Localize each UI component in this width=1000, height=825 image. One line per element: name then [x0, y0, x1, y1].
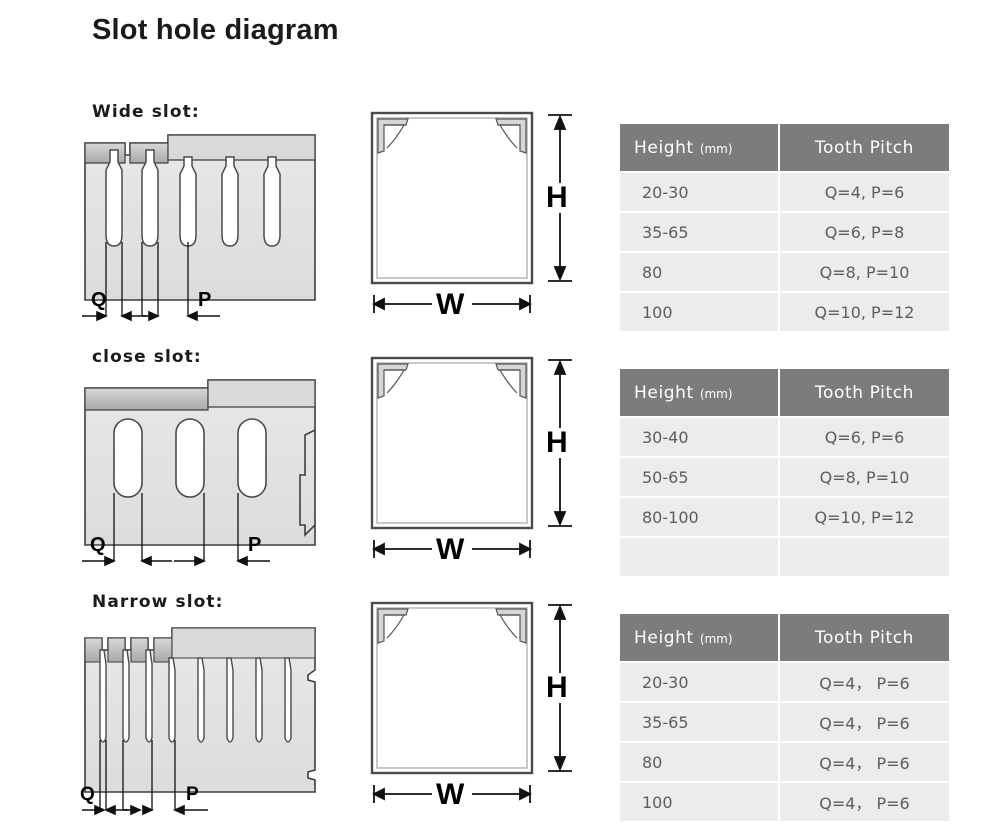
cell-pitch: Q=4， P=6: [780, 783, 949, 821]
table-row: 35-65Q=4， P=6: [620, 703, 949, 743]
section-label: Narrow slot:: [92, 592, 224, 612]
cell-height: 80: [620, 743, 780, 783]
cell-pitch: Q=4， P=6: [780, 703, 949, 743]
dim-w-label: W: [436, 778, 465, 810]
table-row: 20-30Q=4， P=6: [620, 663, 949, 703]
dim-p-label: P: [186, 784, 199, 805]
cell-height: 30-40: [620, 418, 780, 458]
cell-pitch: Q=6, P=8: [780, 213, 949, 253]
section-close-slot: close slot: Q P: [0, 335, 1000, 580]
dim-w-label: W: [436, 533, 465, 565]
section-label: close slot:: [92, 347, 202, 367]
cell-pitch: Q=10, P=12: [780, 293, 949, 331]
dim-p-label: P: [198, 289, 211, 311]
dim-h-label: H: [546, 426, 568, 459]
cell-height: [620, 538, 780, 576]
table-row: 20-30Q=4, P=6: [620, 173, 949, 213]
cell-height: 20-30: [620, 173, 780, 213]
table-row: 80-100Q=10, P=12: [620, 498, 949, 538]
spec-table-close: Height (mm) Tooth Pitch 30-40Q=6, P=6 50…: [620, 369, 930, 576]
close-slot-diagram: Q P: [80, 375, 340, 575]
header-tooth-pitch: Tooth Pitch: [780, 369, 949, 418]
header-tooth-pitch: Tooth Pitch: [780, 614, 949, 663]
cell-height: 35-65: [620, 703, 780, 743]
table-row: 80Q=8, P=10: [620, 253, 949, 293]
narrow-slot-cross-section: H W: [360, 595, 590, 810]
table-row: 30-40Q=6, P=6: [620, 418, 949, 458]
section-label: Wide slot:: [92, 102, 200, 122]
page-title: Slot hole diagram: [92, 14, 339, 47]
cell-height: 100: [620, 293, 780, 331]
table-header-row: Height (mm) Tooth Pitch: [620, 124, 949, 173]
header-height-unit: (mm): [700, 142, 733, 156]
dim-q-label: Q: [91, 289, 107, 311]
wide-slot-cross-section: H W: [360, 105, 590, 320]
narrow-slot-diagram: Q P: [80, 620, 340, 820]
header-height: Height (mm): [620, 124, 780, 173]
wide-slot-diagram: Q P: [80, 130, 340, 330]
cell-height: 80-100: [620, 498, 780, 538]
close-slot-cross-section: H W: [360, 350, 590, 565]
table-row: 100Q=10, P=12: [620, 293, 949, 331]
spec-table-narrow: Height (mm) Tooth Pitch 20-30Q=4， P=6 35…: [620, 614, 930, 821]
header-height-unit: (mm): [700, 632, 733, 646]
dim-q-label: Q: [80, 784, 95, 805]
table-row-empty: [620, 538, 949, 576]
cell-height: 35-65: [620, 213, 780, 253]
cell-pitch: Q=4， P=6: [780, 743, 949, 783]
header-height-unit: (mm): [700, 387, 733, 401]
dim-q-label: Q: [90, 534, 106, 556]
section-wide-slot: Wide slot:: [0, 90, 1000, 335]
cell-pitch: Q=8, P=10: [780, 253, 949, 293]
section-narrow-slot: Narrow slot:: [0, 580, 1000, 825]
dim-w-label: W: [436, 288, 465, 320]
dim-h-label: H: [546, 181, 568, 214]
dim-p-label: P: [248, 534, 261, 556]
header-height: Height (mm): [620, 369, 780, 418]
header-tooth-pitch: Tooth Pitch: [780, 124, 949, 173]
cell-height: 20-30: [620, 663, 780, 703]
table-row: 35-65Q=6, P=8: [620, 213, 949, 253]
cell-pitch: [780, 538, 949, 576]
cell-height: 100: [620, 783, 780, 821]
table-row: 80Q=4， P=6: [620, 743, 949, 783]
cell-pitch: Q=6, P=6: [780, 418, 949, 458]
table-row: 50-65Q=8, P=10: [620, 458, 949, 498]
spec-table-wide: Height (mm) Tooth Pitch 20-30Q=4, P=6 35…: [620, 124, 930, 331]
dim-h-label: H: [546, 671, 568, 704]
header-height: Height (mm): [620, 614, 780, 663]
table-header-row: Height (mm) Tooth Pitch: [620, 614, 949, 663]
table-header-row: Height (mm) Tooth Pitch: [620, 369, 949, 418]
cell-pitch: Q=10, P=12: [780, 498, 949, 538]
table-row: 100Q=4， P=6: [620, 783, 949, 821]
cell-pitch: Q=8, P=10: [780, 458, 949, 498]
cell-pitch: Q=4， P=6: [780, 663, 949, 703]
cell-height: 80: [620, 253, 780, 293]
cell-pitch: Q=4, P=6: [780, 173, 949, 213]
cell-height: 50-65: [620, 458, 780, 498]
